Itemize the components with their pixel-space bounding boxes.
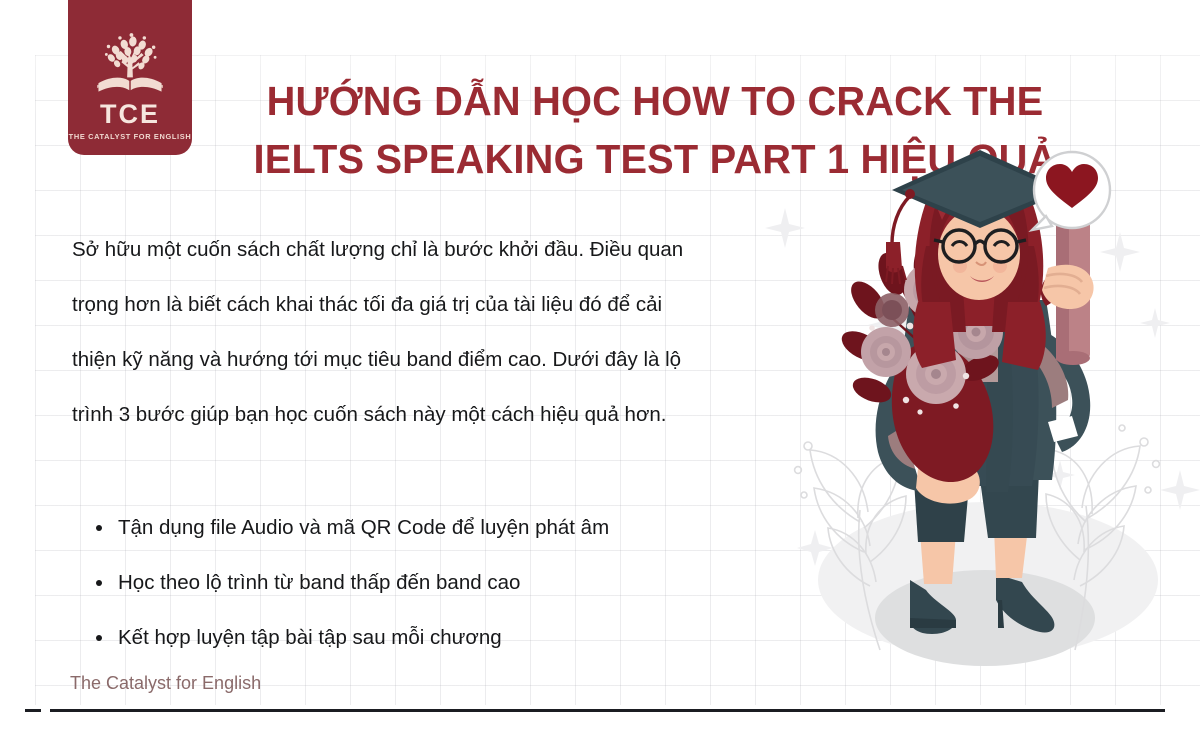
poster-canvas: TCE THE CATALYST FOR ENGLISH HƯỚNG DẪN H… <box>0 0 1200 750</box>
logo-tagline: THE CATALYST FOR ENGLISH <box>69 132 192 141</box>
red-tassel-icon <box>886 189 915 284</box>
footer-dash <box>25 709 41 712</box>
heart-speech-bubble-icon <box>1032 152 1110 230</box>
tce-logo-panel[interactable]: TCE THE CATALYST FOR ENGLISH <box>68 0 192 155</box>
footer-brand: The Catalyst for English <box>70 673 261 694</box>
footer-rule <box>50 709 1165 712</box>
intro-paragraph-block: Sở hữu một cuốn sách chất lượng chỉ là b… <box>72 222 712 442</box>
floor-shadow <box>875 570 1095 666</box>
tree-over-open-book-icon <box>87 27 173 99</box>
logo-wordmark: TCE <box>100 101 160 128</box>
intro-paragraph: Sở hữu một cuốn sách chất lượng chỉ là b… <box>72 222 712 442</box>
title-line-1: HƯỚNG DẪN HỌC HOW TO CRACK THE <box>228 72 1082 130</box>
steps-list: Tận dụng file Audio và mã QR Code để luy… <box>88 500 708 665</box>
list-item: Học theo lộ trình từ band thấp đến band … <box>88 555 708 610</box>
list-item: Kết hợp luyện tập bài tập sau mỗi chương <box>88 610 708 665</box>
list-item: Tận dụng file Audio và mã QR Code để luy… <box>88 500 708 555</box>
graduate-illustration <box>760 150 1200 695</box>
